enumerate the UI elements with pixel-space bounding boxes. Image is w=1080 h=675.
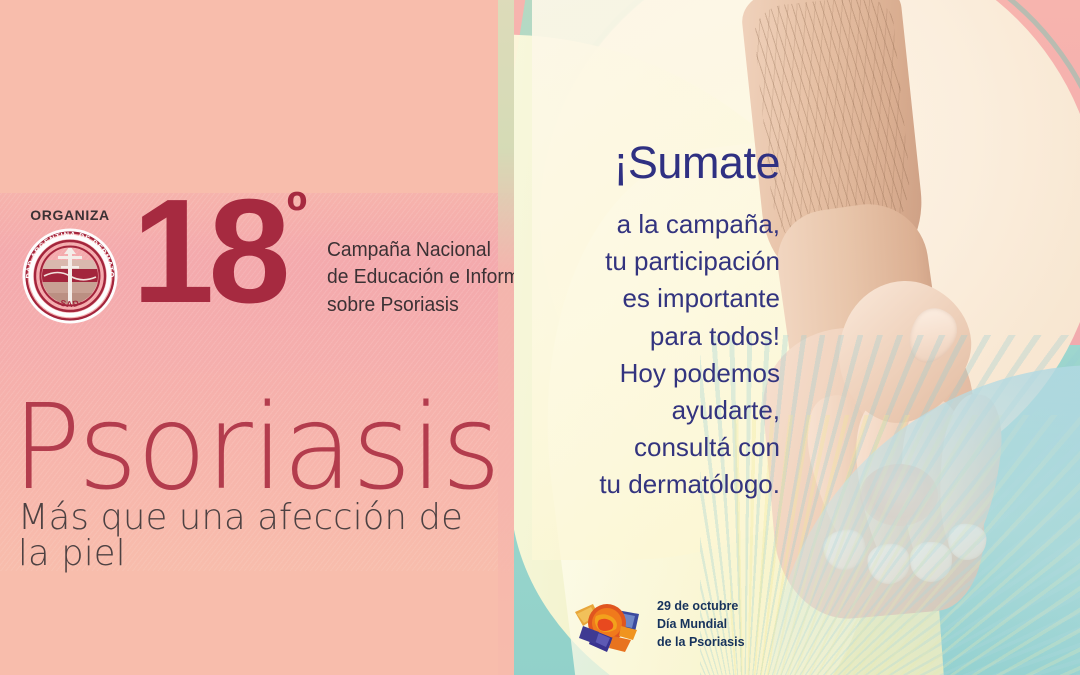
campaign-line-3: sobre Psoriasis — [327, 291, 514, 318]
edition-number: 18º — [132, 188, 305, 315]
campaign-line-2: de Educación e Información — [327, 263, 514, 290]
left-panel: ORGANIZA — [0, 0, 514, 675]
sumate-line-7: consultá con — [534, 429, 780, 466]
left-edge-green-strip — [498, 0, 514, 675]
sumate-headline: ¡Sumate — [550, 140, 780, 185]
sumate-line-3: es importante — [534, 280, 780, 317]
sumate-line-8: tu dermatólogo. — [534, 466, 780, 503]
sumate-line-6: ayudarte, — [534, 392, 780, 429]
sumate-line-5: Hoy podemos — [534, 355, 780, 392]
organizer-block: ORGANIZA — [16, 206, 124, 326]
sumate-line-4: para todos! — [534, 318, 780, 355]
badge-line-2: Día Mundial — [657, 616, 745, 634]
sad-seal-icon: SOCIEDAD ARGENTINA DE DERMATOLOGIA -SAD- — [20, 226, 120, 326]
world-psoriasis-day-text: 29 de octubre Día Mundial de la Psoriasi… — [657, 598, 745, 651]
page-title: Psoriasis — [12, 388, 500, 506]
sumate-body-text: a la campaña, tu participación es import… — [534, 206, 780, 503]
edition-degree-symbol: º — [287, 179, 307, 242]
campaign-header-row: ORGANIZA — [16, 206, 514, 333]
world-psoriasis-day-globe-icon — [569, 596, 645, 654]
sumate-line-1: a la campaña, — [534, 206, 780, 243]
sumate-line-2: tu participación — [534, 243, 780, 280]
campaign-description: Campaña Nacional de Educación e Informac… — [327, 236, 514, 318]
edition-number-value: 18 — [132, 169, 285, 334]
world-psoriasis-day-badge: 29 de octubre Día Mundial de la Psoriasi… — [569, 596, 745, 654]
badge-line-1: 29 de octubre — [657, 598, 745, 616]
badge-line-3: de la Psoriasis — [657, 634, 745, 652]
organiza-label: ORGANIZA — [30, 208, 109, 222]
page-subtitle: Más que una afección de la piel — [18, 500, 504, 572]
right-panel: ¡Sumate a la campaña, tu participación e… — [514, 0, 1080, 675]
psoriasis-campaign-poster: ORGANIZA — [0, 0, 1080, 675]
campaign-line-1: Campaña Nacional — [327, 236, 514, 263]
